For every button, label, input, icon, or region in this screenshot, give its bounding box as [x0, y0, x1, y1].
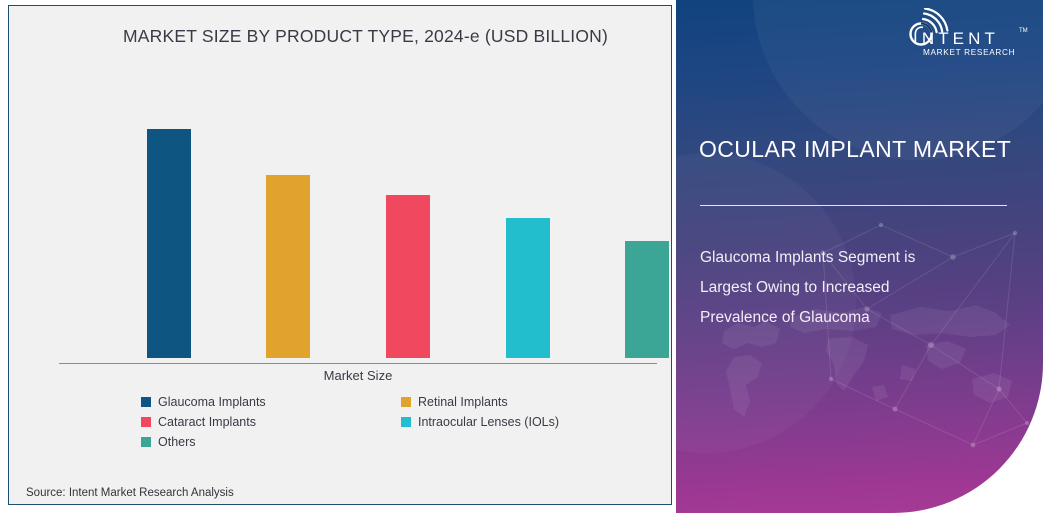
source-note: Source: Intent Market Research Analysis: [26, 487, 234, 499]
legend-row: Cataract Implants Intraocular Lenses (IO…: [141, 412, 591, 432]
infographic-root: MARKET SIZE BY PRODUCT TYPE, 2024-e (USD…: [0, 0, 1043, 513]
logo-wordmark: INTENT: [913, 29, 999, 48]
bar-intraocular-lenses-iols[interactable]: [506, 218, 550, 358]
x-axis-line: [59, 363, 657, 364]
bar-cataract-implants[interactable]: [386, 195, 430, 358]
chart-legend: Glaucoma Implants Retinal Implants Catar…: [141, 392, 591, 452]
legend-item-cataract-implants[interactable]: Cataract Implants: [141, 415, 401, 429]
panel-divider: [700, 205, 1007, 206]
panel-body-line: Glaucoma Implants Segment is: [700, 243, 1000, 273]
legend-label: Retinal Implants: [418, 395, 508, 409]
panel-body-text: Glaucoma Implants Segment is Largest Owi…: [700, 243, 1000, 333]
legend-label: Intraocular Lenses (IOLs): [418, 415, 559, 429]
logo-trademark: TM: [1019, 28, 1028, 34]
legend-label: Glaucoma Implants: [158, 395, 266, 409]
x-axis-label: Market Size: [59, 368, 657, 383]
legend-swatch-icon: [401, 417, 411, 427]
legend-row: Glaucoma Implants Retinal Implants: [141, 392, 591, 412]
bar-glaucoma-implants[interactable]: [147, 129, 191, 358]
bar-retinal-implants[interactable]: [266, 175, 310, 358]
title-panel: INTENT TM MARKET RESEARCH OCULAR IMPLANT…: [676, 0, 1043, 513]
legend-item-intraocular-lenses[interactable]: Intraocular Lenses (IOLs): [401, 415, 559, 429]
logo-tagline: MARKET RESEARCH: [923, 48, 1015, 57]
legend-row: Others: [141, 432, 591, 452]
panel-body-line: Prevalence of Glaucoma: [700, 303, 1000, 333]
intent-market-research-logo[interactable]: INTENT TM MARKET RESEARCH: [897, 8, 1029, 60]
panel-body-line: Largest Owing to Increased: [700, 273, 1000, 303]
legend-swatch-icon: [141, 437, 151, 447]
legend-swatch-icon: [141, 397, 151, 407]
legend-item-glaucoma-implants[interactable]: Glaucoma Implants: [141, 395, 401, 409]
panel-title: OCULAR IMPLANT MARKET: [699, 136, 1011, 163]
legend-label: Cataract Implants: [158, 415, 256, 429]
chart-title: MARKET SIZE BY PRODUCT TYPE, 2024-e (USD…: [123, 26, 608, 47]
chart-card: MARKET SIZE BY PRODUCT TYPE, 2024-e (USD…: [8, 5, 672, 505]
legend-swatch-icon: [141, 417, 151, 427]
bar-chart-plot-area: [59, 106, 657, 358]
legend-item-others[interactable]: Others: [141, 435, 401, 449]
legend-label: Others: [158, 435, 196, 449]
legend-swatch-icon: [401, 397, 411, 407]
legend-item-retinal-implants[interactable]: Retinal Implants: [401, 395, 508, 409]
bar-others[interactable]: [625, 241, 669, 358]
